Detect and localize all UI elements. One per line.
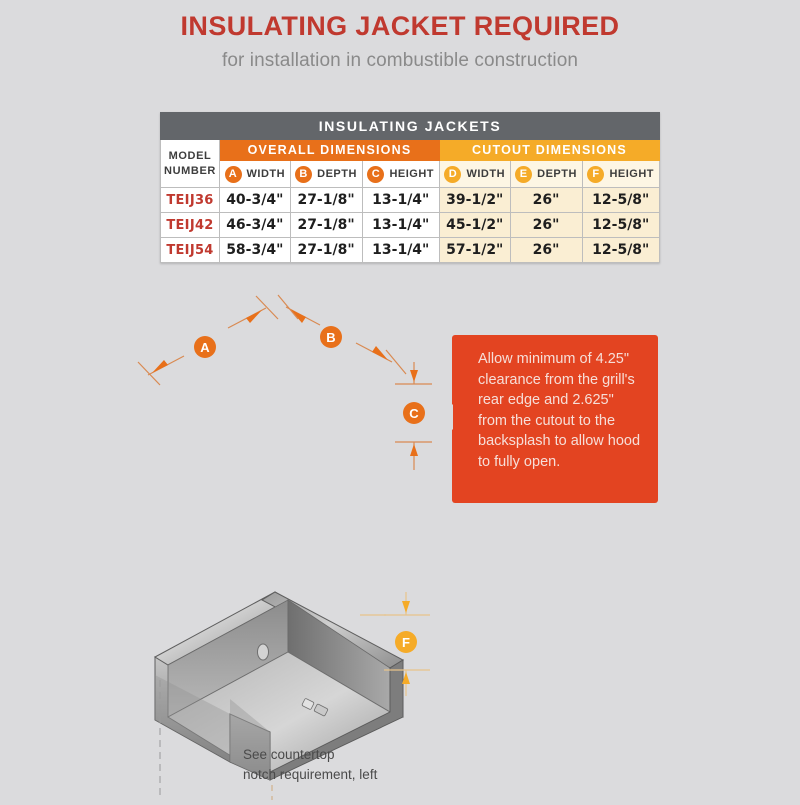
table-row: TEIJ42 46-3/4" 27-1/8" 13-1/4" 45-1/2" 2… [161, 213, 660, 238]
table-row: TEIJ36 40-3/4" 27-1/8" 13-1/4" 39-1/2" 2… [161, 188, 660, 213]
insulating-jackets-table: INSULATING JACKETS MODEL NUMBER OVERALL … [160, 112, 660, 263]
dimension-b: B [278, 295, 406, 374]
cell-model-1: TEIJ42 [161, 213, 220, 238]
cell-f-0: 12-5/8" [582, 188, 659, 213]
installation-diagram: A B C [0, 280, 800, 800]
table-row: TEIJ54 58-3/4" 27-1/8" 13-1/4" 57-1/2" 2… [161, 238, 660, 263]
svg-text:B: B [326, 330, 335, 345]
dimension-c: C [395, 362, 432, 470]
cell-c-2: 13-1/4" [362, 238, 439, 263]
cell-d-1: 45-1/2" [439, 213, 510, 238]
svg-text:A: A [200, 340, 210, 355]
cell-model-2: TEIJ54 [161, 238, 220, 263]
column-header-d: D WIDTH [439, 161, 510, 188]
cell-b-1: 27-1/8" [290, 213, 362, 238]
diagram-svg: A B C [0, 280, 800, 800]
dimension-a: A [138, 296, 278, 385]
column-header-a: A WIDTH [220, 161, 291, 188]
badge-d-icon: D [444, 166, 461, 183]
cell-a-1: 46-3/4" [220, 213, 291, 238]
model-number-header-line2: NUMBER [164, 165, 216, 177]
group-header-cutout: CUTOUT DIMENSIONS [439, 140, 659, 161]
cell-e-0: 26" [510, 188, 582, 213]
column-label-a: WIDTH [247, 168, 286, 180]
clearance-callout: Allow minimum of 4.25" clearance from th… [452, 335, 658, 503]
callout-notch-icon [439, 404, 453, 430]
model-number-header: MODEL NUMBER [161, 140, 220, 188]
cell-e-2: 26" [510, 238, 582, 263]
cell-f-2: 12-5/8" [582, 238, 659, 263]
column-header-f: F HEIGHT [582, 161, 659, 188]
cell-e-1: 26" [510, 213, 582, 238]
column-label-f: HEIGHT [609, 168, 654, 180]
callout-text: Allow minimum of 4.25" clearance from th… [452, 335, 658, 472]
column-header-e: E DEPTH [510, 161, 582, 188]
badge-e-icon: E [515, 166, 532, 183]
countertop-notch-footnote: See countertop notch requirement, left [243, 745, 377, 784]
model-number-header-line1: MODEL [169, 150, 212, 162]
table-group-row: MODEL NUMBER OVERALL DIMENSIONS CUTOUT D… [161, 140, 660, 161]
cell-a-0: 40-3/4" [220, 188, 291, 213]
column-header-b: B DEPTH [290, 161, 362, 188]
table-band-title: INSULATING JACKETS [161, 113, 660, 140]
cell-f-1: 12-5/8" [582, 213, 659, 238]
cell-a-2: 58-3/4" [220, 238, 291, 263]
svg-text:F: F [402, 635, 410, 650]
column-label-e: DEPTH [537, 168, 577, 180]
column-label-c: HEIGHT [389, 168, 434, 180]
badge-b-icon: B [295, 166, 312, 183]
cell-d-0: 39-1/2" [439, 188, 510, 213]
cell-model-0: TEIJ36 [161, 188, 220, 213]
cell-c-1: 13-1/4" [362, 213, 439, 238]
badge-c-icon: C [367, 166, 384, 183]
badge-f-icon: F [587, 166, 604, 183]
cell-d-2: 57-1/2" [439, 238, 510, 263]
cell-c-0: 13-1/4" [362, 188, 439, 213]
column-header-c: C HEIGHT [362, 161, 439, 188]
svg-text:C: C [409, 406, 419, 421]
page-subtitle: for installation in combustible construc… [0, 50, 800, 72]
page-title: INSULATING JACKET REQUIRED [0, 12, 800, 42]
column-label-d: WIDTH [466, 168, 505, 180]
group-header-overall: OVERALL DIMENSIONS [220, 140, 440, 161]
table-column-header-row: A WIDTH B DEPTH C HEIGHT D WIDTH E [161, 161, 660, 188]
column-label-b: DEPTH [317, 168, 357, 180]
page-header: INSULATING JACKET REQUIRED for installat… [0, 0, 800, 72]
badge-a-icon: A [225, 166, 242, 183]
cell-b-0: 27-1/8" [290, 188, 362, 213]
table-band-row: INSULATING JACKETS [161, 113, 660, 140]
cell-b-2: 27-1/8" [290, 238, 362, 263]
